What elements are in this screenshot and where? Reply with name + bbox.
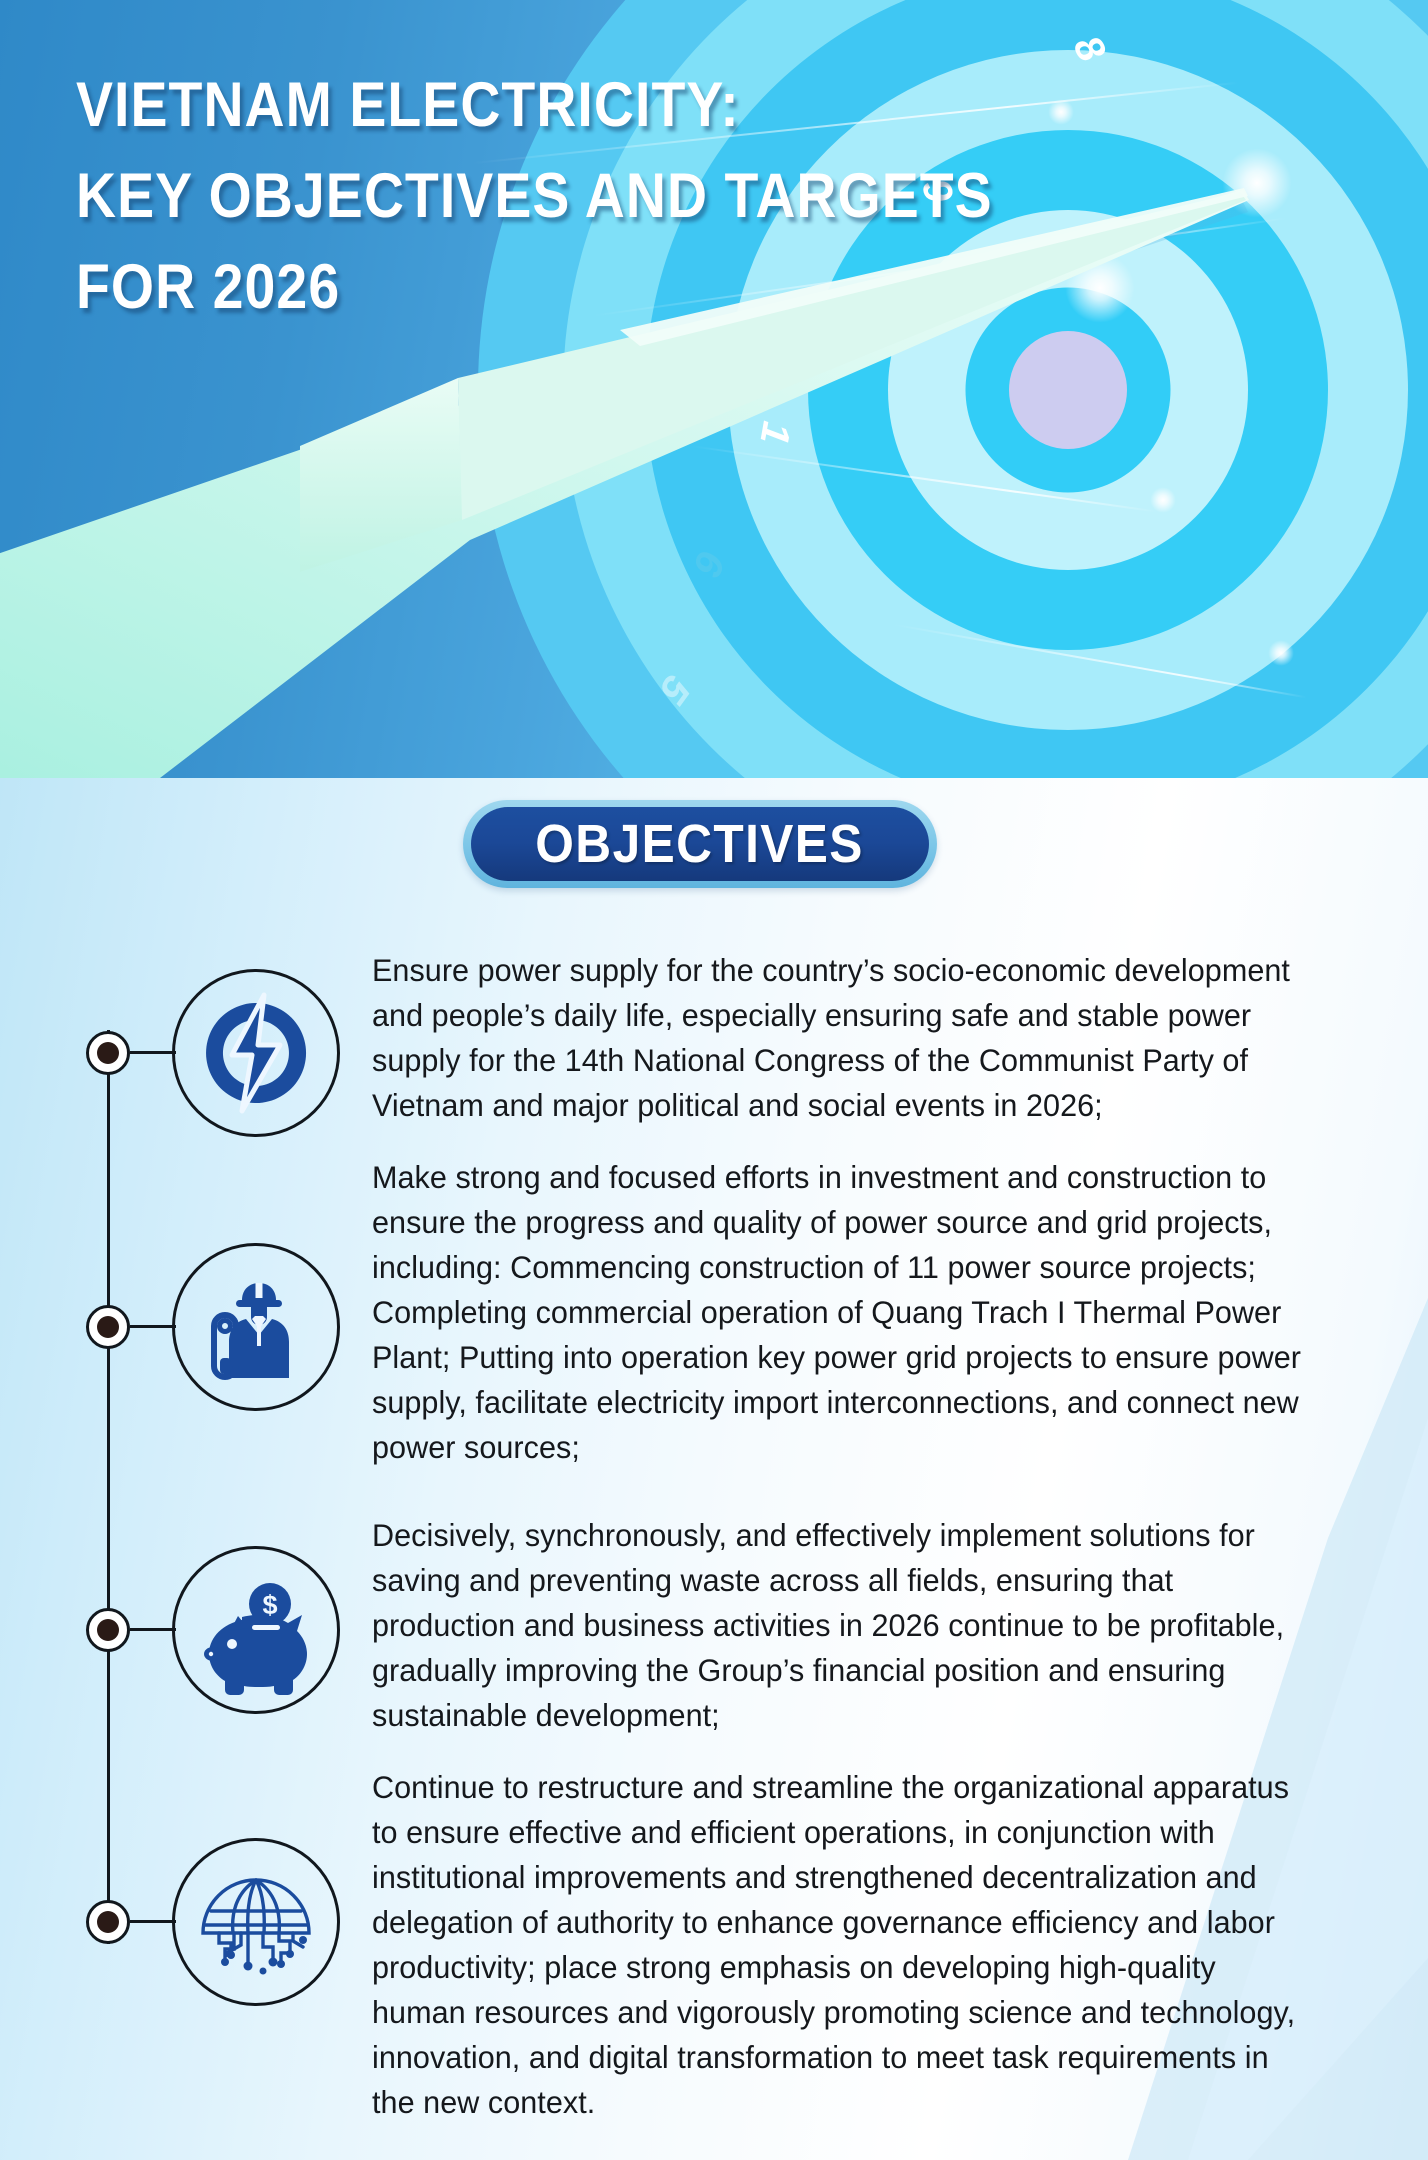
- title-line-3: FOR 2026: [76, 242, 993, 333]
- objective-icon-2: [172, 1243, 340, 1411]
- hero-banner: 0 9 8 9 8 1 6 5 4: [0, 0, 1428, 778]
- timeline-axis: [107, 1030, 110, 1944]
- objectives-badge[interactable]: OBJECTIVES: [463, 800, 937, 888]
- objectives-badge-label: OBJECTIVES: [536, 813, 865, 875]
- engineer-blueprint-icon: [195, 1266, 317, 1388]
- objective-icon-3: $: [172, 1546, 340, 1714]
- timeline-node-1[interactable]: [86, 1031, 130, 1075]
- objective-text-1: Ensure power supply for the country’s so…: [372, 948, 1311, 1128]
- objective-icon-1: [172, 969, 340, 1137]
- page-title: VIETNAM ELECTRICITY: KEY OBJECTIVES AND …: [76, 60, 1118, 333]
- digital-globe-icon: [193, 1859, 319, 1985]
- timeline-node-2[interactable]: [86, 1305, 130, 1349]
- timeline-connector-2: [130, 1325, 176, 1328]
- objective-icon-4: [172, 1838, 340, 2006]
- objectives-badge-inner: OBJECTIVES: [471, 807, 929, 881]
- power-bolt-icon: [196, 993, 316, 1113]
- timeline-connector-3: [130, 1628, 176, 1631]
- objective-text-3: Decisively, synchronously, and effective…: [372, 1513, 1311, 1738]
- timeline-connector-1: [130, 1051, 176, 1054]
- timeline-node-4[interactable]: [86, 1900, 130, 1944]
- piggy-bank-icon: $: [194, 1568, 318, 1692]
- title-line-1: VIETNAM ELECTRICITY:: [76, 60, 993, 151]
- title-line-2: KEY OBJECTIVES AND TARGETS: [76, 151, 993, 242]
- objective-text-2: Make strong and focused efforts in inves…: [372, 1155, 1311, 1470]
- timeline-node-3[interactable]: [86, 1608, 130, 1652]
- timeline-connector-4: [130, 1920, 176, 1923]
- infographic-poster: 0 9 8 9 8 1 6 5 4: [0, 0, 1428, 2160]
- objective-text-4: Continue to restructure and streamline t…: [372, 1765, 1311, 2125]
